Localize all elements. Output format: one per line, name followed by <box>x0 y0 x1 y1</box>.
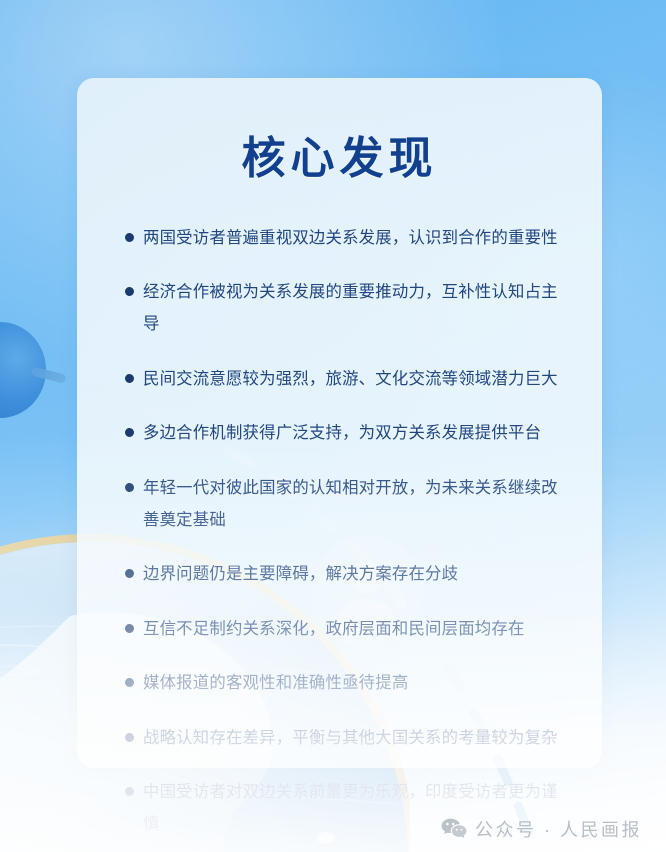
list-item: 经济合作被视为关系发展的重要推动力，互补性认知占主导 <box>125 276 572 340</box>
list-item-label: 媒体报道的客观性和准确性亟待提高 <box>143 667 572 699</box>
wechat-icon <box>441 818 467 840</box>
list-item: 战略认知存在差异，平衡与其他大国关系的考量较为复杂 <box>125 722 572 754</box>
list-item-label: 边界问题仍是主要障碍，解决方案存在分歧 <box>143 558 572 590</box>
bullet-dot-icon <box>125 374 134 383</box>
watermark-label: 公众号 · 人民画报 <box>475 816 642 842</box>
bullet-dot-icon <box>125 233 134 242</box>
list-item: 民间交流意愿较为强烈，旅游、文化交流等领域潜力巨大 <box>125 363 572 395</box>
bullet-dot-icon <box>125 483 134 492</box>
list-item: 互信不足制约关系深化，政府层面和民间层面均存在 <box>125 613 572 645</box>
findings-card: 核心发现 两国受访者普遍重视双边关系发展，认识到合作的重要性 经济合作被视为关系… <box>77 78 602 768</box>
list-item-label: 互信不足制约关系深化，政府层面和民间层面均存在 <box>143 613 572 645</box>
bullet-dot-icon <box>125 428 134 437</box>
findings-list: 两国受访者普遍重视双边关系发展，认识到合作的重要性 经济合作被视为关系发展的重要… <box>77 186 602 840</box>
poster-root: 核心发现 两国受访者普遍重视双边关系发展，认识到合作的重要性 经济合作被视为关系… <box>0 0 666 852</box>
list-item: 多边合作机制获得广泛支持，为双方关系发展提供平台 <box>125 417 572 449</box>
list-item-label: 民间交流意愿较为强烈，旅游、文化交流等领域潜力巨大 <box>143 363 572 395</box>
bullet-dot-icon <box>125 569 134 578</box>
bullet-dot-icon <box>125 787 134 796</box>
list-item: 年轻一代对彼此国家的认知相对开放，为未来关系继续改善奠定基础 <box>125 472 572 536</box>
list-item: 边界问题仍是主要障碍，解决方案存在分歧 <box>125 558 572 590</box>
list-item-label: 两国受访者普遍重视双边关系发展，认识到合作的重要性 <box>143 222 572 254</box>
list-item: 媒体报道的客观性和准确性亟待提高 <box>125 667 572 699</box>
bullet-dot-icon <box>125 287 134 296</box>
list-item: 两国受访者普遍重视双边关系发展，认识到合作的重要性 <box>125 222 572 254</box>
page-title: 核心发现 <box>77 78 602 186</box>
bullet-dot-icon <box>125 678 134 687</box>
watermark: 公众号 · 人民画报 <box>441 816 642 842</box>
list-item-label: 战略认知存在差异，平衡与其他大国关系的考量较为复杂 <box>143 722 572 754</box>
list-item-label: 多边合作机制获得广泛支持，为双方关系发展提供平台 <box>143 417 572 449</box>
list-item-label: 年轻一代对彼此国家的认知相对开放，为未来关系继续改善奠定基础 <box>143 472 572 536</box>
list-item-label: 经济合作被视为关系发展的重要推动力，互补性认知占主导 <box>143 276 572 340</box>
blue-circle-accent <box>0 322 46 418</box>
bullet-dot-icon <box>125 624 134 633</box>
bullet-dot-icon <box>125 733 134 742</box>
